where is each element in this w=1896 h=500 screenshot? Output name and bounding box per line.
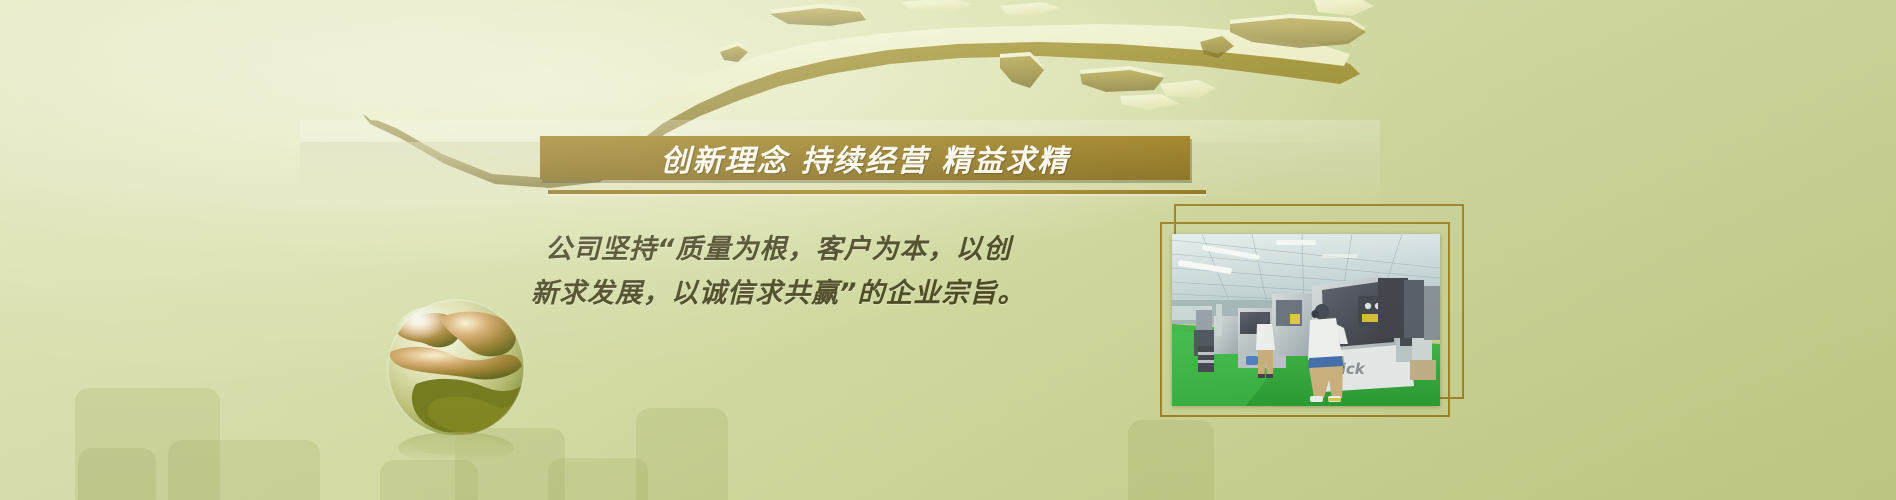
- workshop-photo-block: dick: [1160, 248, 1460, 448]
- decorative-square: [636, 408, 728, 500]
- subtitle-line-1: 公司坚持“质量为根，客户为本，以创: [545, 228, 1165, 272]
- page-title: 创新理念 持续经营 精益求精: [661, 136, 1070, 180]
- factory-workshop-photo[interactable]: dick: [1172, 234, 1440, 406]
- decorative-square: [168, 440, 320, 500]
- decorative-square: [548, 458, 648, 500]
- subtitle-block: 公司坚持“质量为根，客户为本，以创 新求发展，以诚信求共赢”的企业宗旨。: [545, 228, 1165, 316]
- headline-plaque: 创新理念 持续经营 精益求精: [540, 136, 1190, 180]
- globe-3d-icon: [378, 296, 538, 486]
- decorative-square: [78, 448, 156, 500]
- subtitle-line-2: 新求发展，以诚信求共赢”的企业宗旨。: [531, 272, 1165, 316]
- company-banner: 创新理念 持续经营 精益求精 公司坚持“质量为根，客户为本，以创 新求发展，以诚…: [0, 0, 1896, 500]
- headline-underline: [548, 190, 1206, 194]
